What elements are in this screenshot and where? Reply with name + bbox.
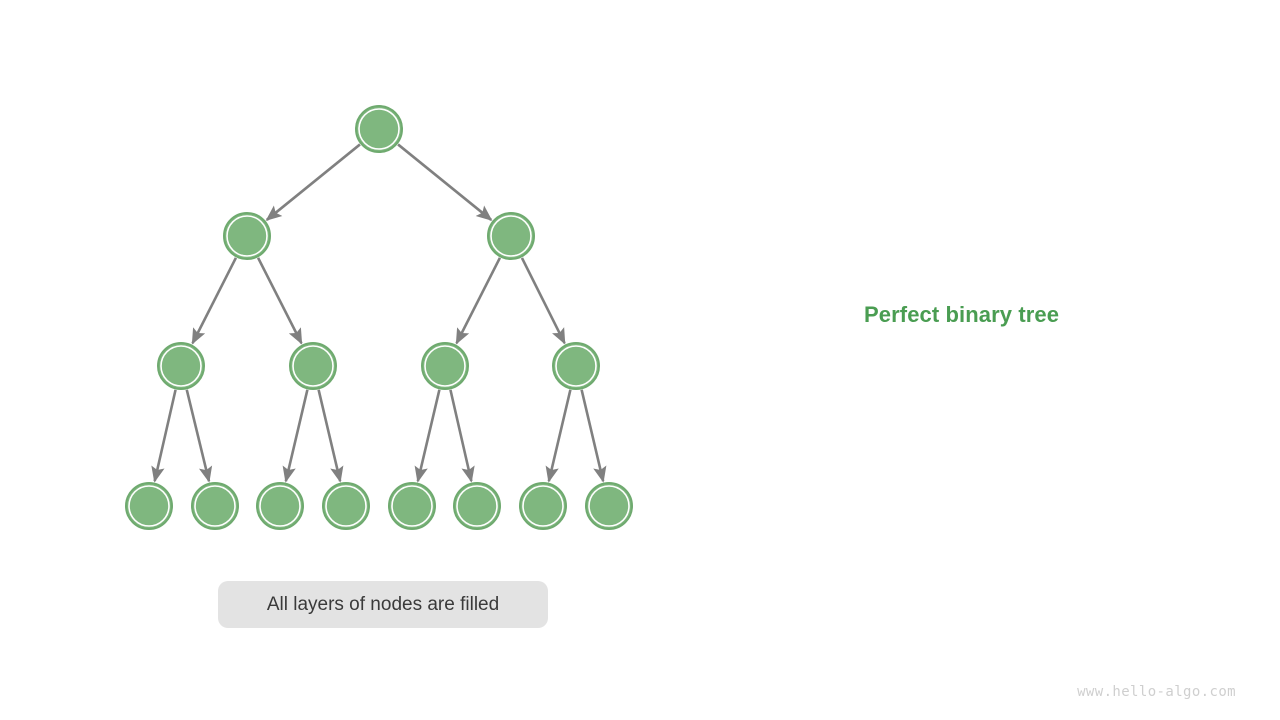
diagram-canvas: Perfect binary tree All layers of nodes … — [0, 0, 1280, 720]
tree-node[interactable] — [192, 483, 238, 529]
node-disc — [257, 483, 303, 529]
node-disc — [126, 483, 172, 529]
tree-edge — [450, 390, 471, 481]
edge-layer — [155, 144, 603, 481]
tree-node[interactable] — [290, 343, 336, 389]
node-disc — [488, 213, 534, 259]
node-disc — [422, 343, 468, 389]
caption-badge: All layers of nodes are filled — [218, 581, 548, 628]
tree-node[interactable] — [520, 483, 566, 529]
tree-edge — [155, 390, 176, 481]
tree-edge — [582, 390, 604, 481]
tree-edge — [267, 144, 360, 220]
tree-node[interactable] — [454, 483, 500, 529]
site-watermark: www.hello-algo.com — [1077, 684, 1236, 700]
tree-edge — [286, 390, 308, 481]
tree-edge — [187, 390, 209, 481]
tree-node[interactable] — [224, 213, 270, 259]
node-layer — [126, 106, 632, 529]
node-disc — [290, 343, 336, 389]
node-disc — [356, 106, 402, 152]
node-disc — [192, 483, 238, 529]
tree-edge — [258, 258, 301, 343]
node-disc — [454, 483, 500, 529]
tree-edge — [522, 258, 565, 343]
tree-node[interactable] — [586, 483, 632, 529]
tree-edge — [193, 258, 236, 343]
caption-label: All layers of nodes are filled — [267, 594, 499, 616]
tree-edge — [457, 258, 500, 343]
node-disc — [520, 483, 566, 529]
tree-node[interactable] — [257, 483, 303, 529]
node-disc — [323, 483, 369, 529]
tree-node[interactable] — [553, 343, 599, 389]
node-disc — [553, 343, 599, 389]
tree-node[interactable] — [356, 106, 402, 152]
tree-node[interactable] — [422, 343, 468, 389]
node-disc — [586, 483, 632, 529]
tree-edge — [319, 390, 341, 481]
tree-node[interactable] — [323, 483, 369, 529]
tree-edge — [549, 390, 571, 481]
tree-node[interactable] — [158, 343, 204, 389]
node-disc — [389, 483, 435, 529]
tree-edge — [418, 390, 440, 481]
binary-tree-graphic — [0, 0, 1280, 720]
tree-node[interactable] — [488, 213, 534, 259]
node-disc — [158, 343, 204, 389]
tree-node[interactable] — [126, 483, 172, 529]
node-disc — [224, 213, 270, 259]
tree-node[interactable] — [389, 483, 435, 529]
page-title: Perfect binary tree — [864, 302, 1059, 328]
tree-edge — [398, 144, 491, 220]
